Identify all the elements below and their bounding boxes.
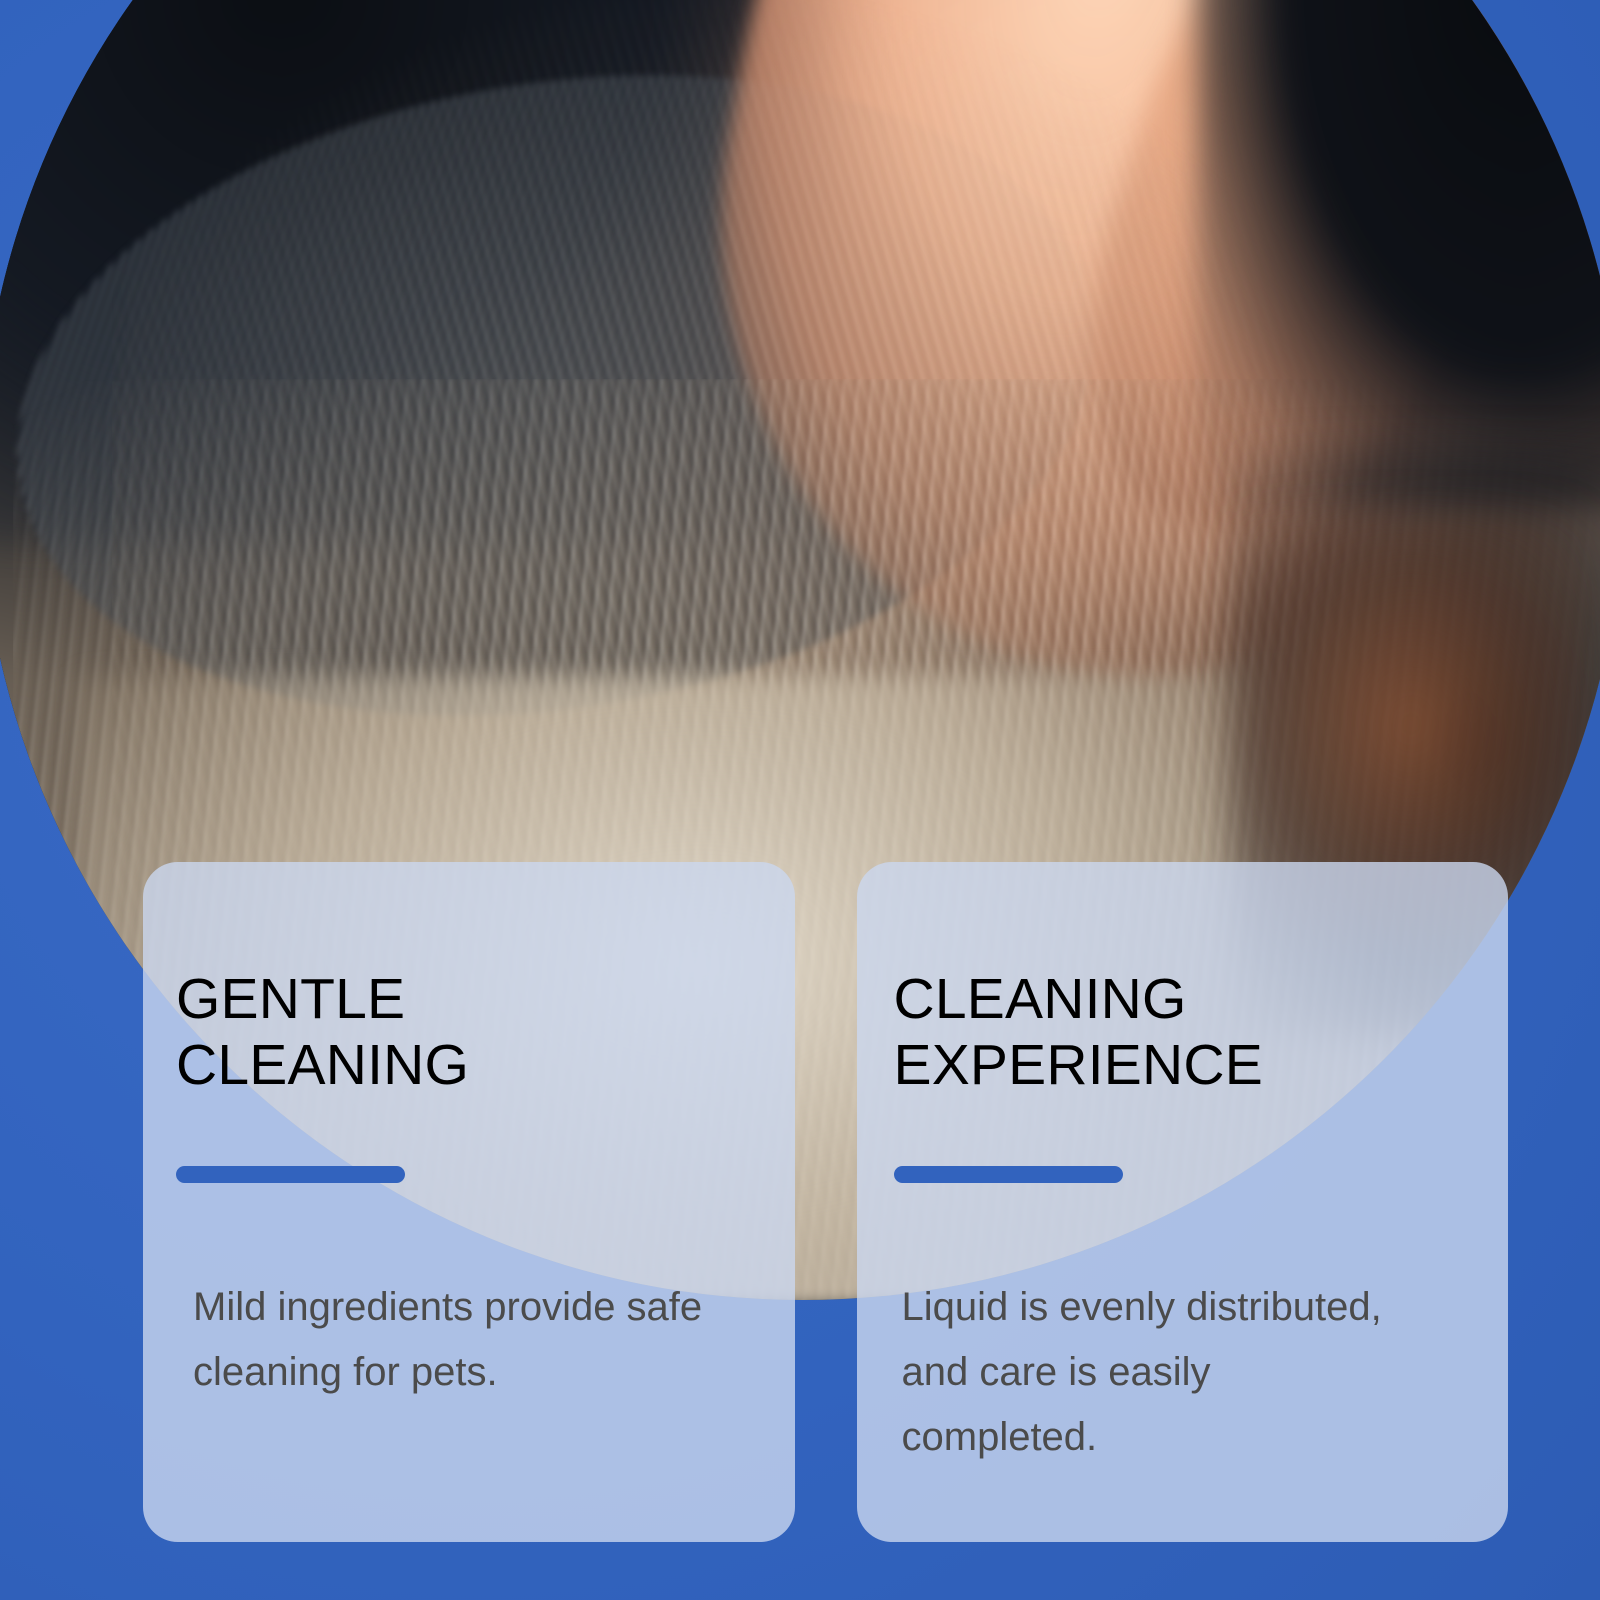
card-title: GENTLE CLEANING [176,966,757,1098]
card-title: CLEANING EXPERIENCE [894,966,1471,1098]
accent-bar [176,1166,405,1183]
photo-dark-void [1197,0,1600,510]
poster-canvas: GENTLE CLEANING Mild ingredients provide… [0,0,1600,1600]
accent-bar [894,1166,1123,1183]
feature-card-cleaning-experience[interactable]: CLEANING EXPERIENCE Liquid is evenly dis… [857,862,1509,1542]
feature-card-gentle-cleaning[interactable]: GENTLE CLEANING Mild ingredients provide… [143,862,795,1542]
card-body-text: Liquid is evenly distributed, and care i… [894,1275,1414,1469]
feature-card-row: GENTLE CLEANING Mild ingredients provide… [143,862,1508,1542]
card-body-text: Mild ingredients provide safe cleaning f… [176,1275,716,1405]
